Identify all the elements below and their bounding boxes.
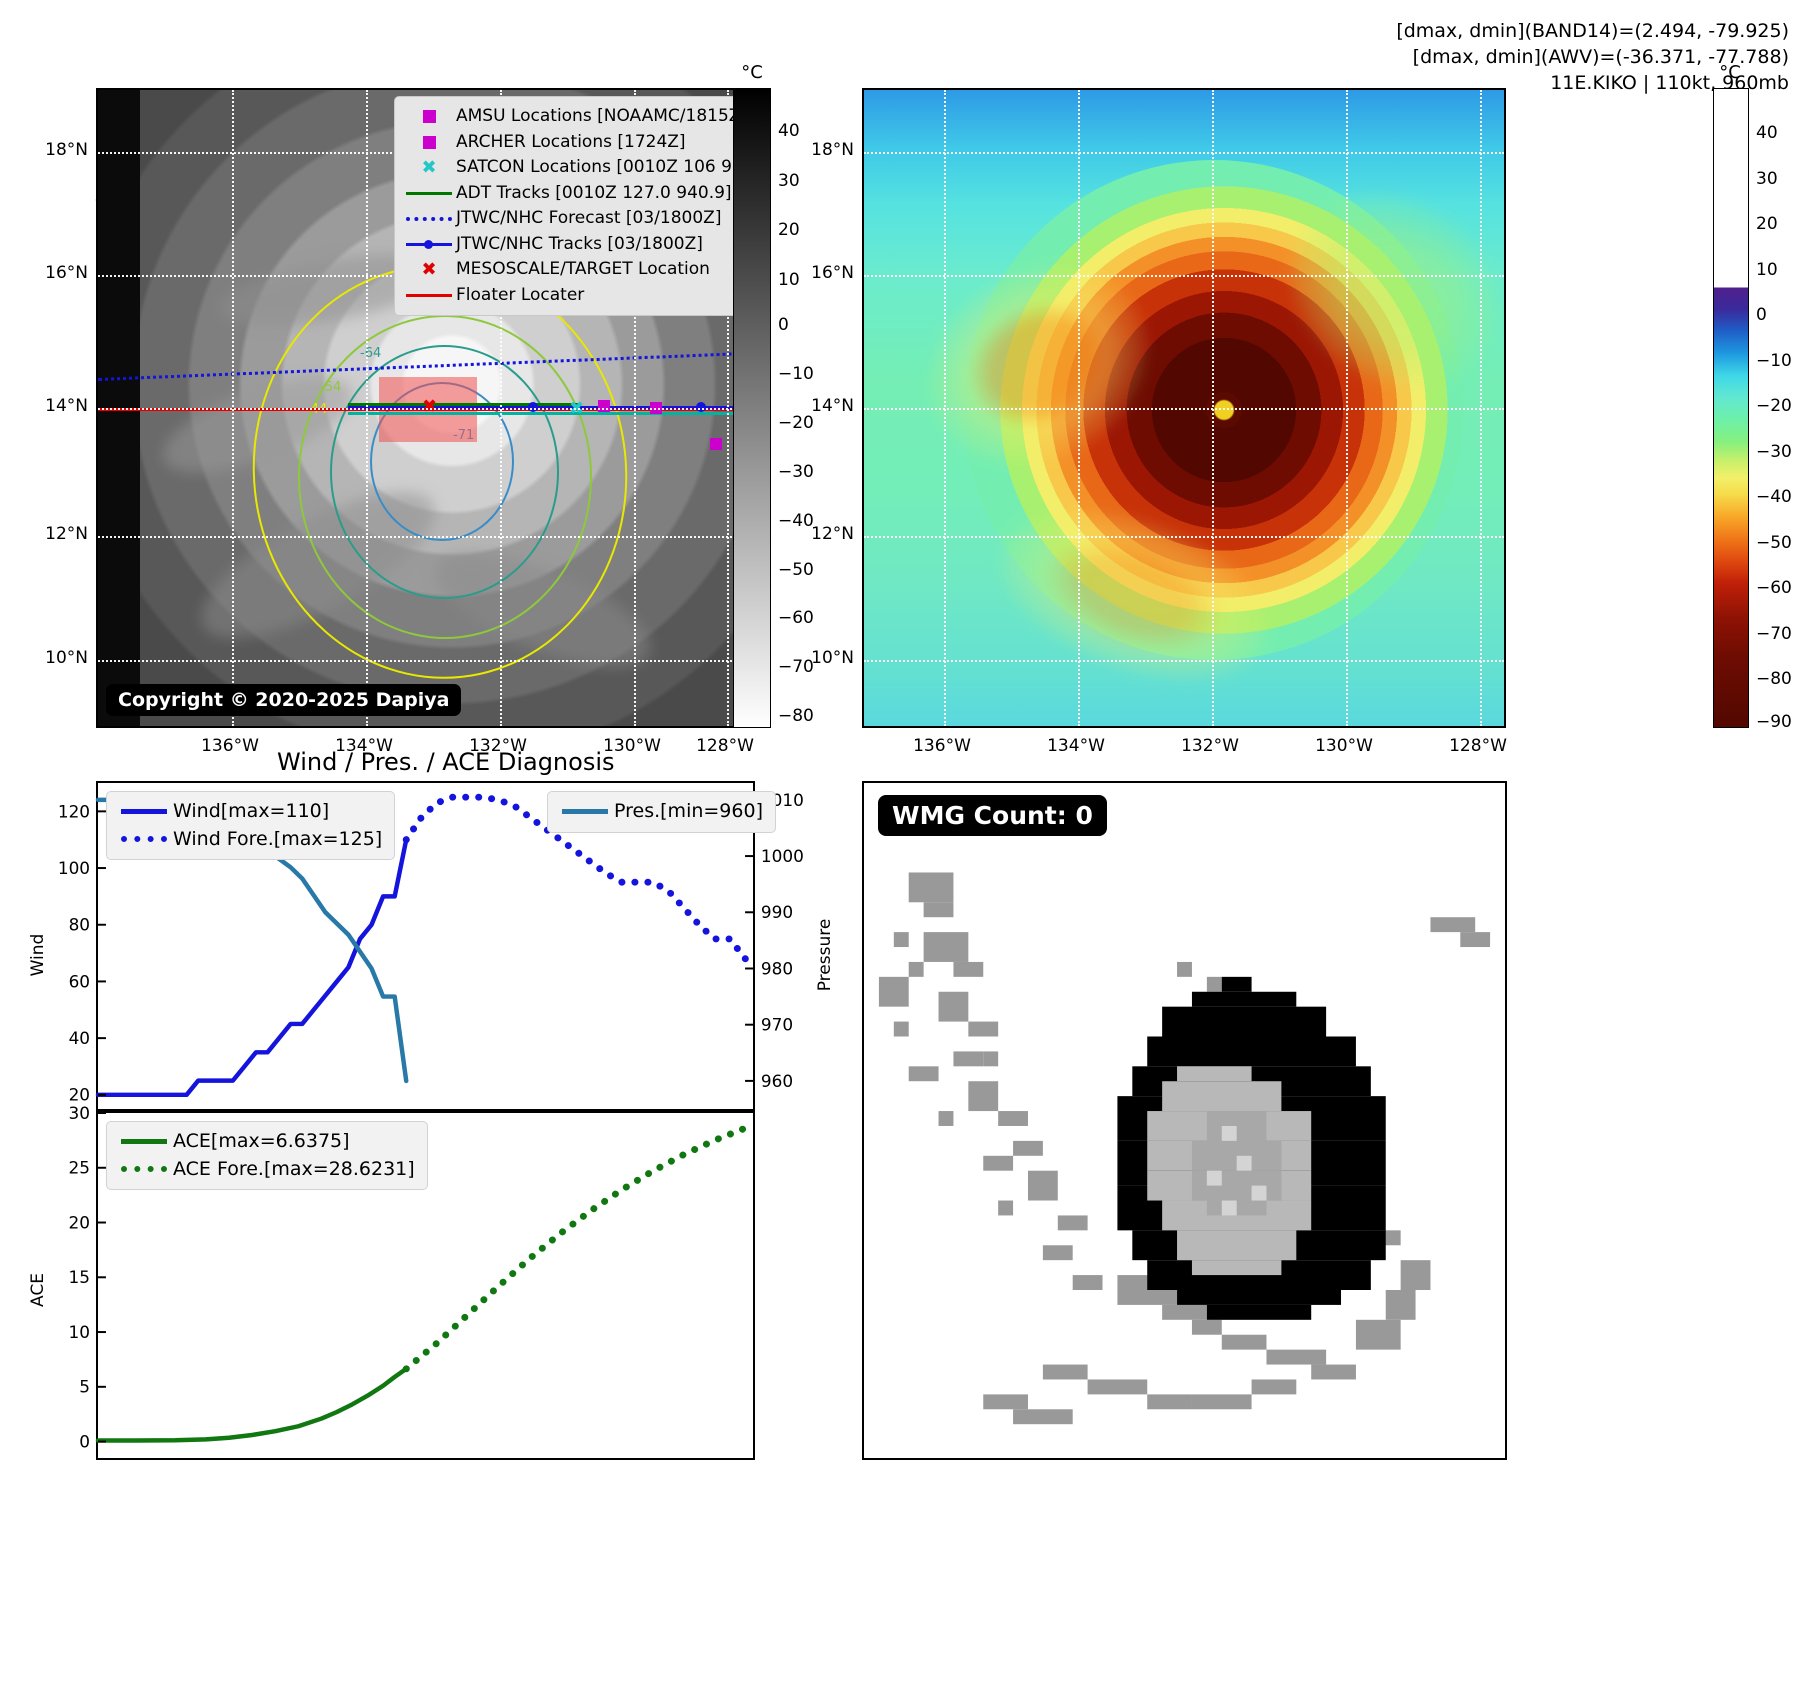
- legend-item: ✖ SATCON Locations [0010Z 106 956]: [402, 155, 738, 181]
- legend-label: ACE[max=6.6375]: [173, 1128, 350, 1156]
- ir-colorbar-tick: 20: [778, 220, 800, 240]
- svg-text:20: 20: [69, 1212, 90, 1232]
- awv-colorbar-unit: °C: [1719, 62, 1741, 83]
- legend-item: ARCHER Locations [1724Z]: [402, 130, 738, 156]
- amsu-location-marker: [710, 438, 722, 450]
- ir-colorbar-tick: −20: [778, 413, 814, 433]
- legend-item: ACE[max=6.6375]: [115, 1128, 415, 1156]
- pressure-chart-legend[interactable]: Pres.[min=960]: [547, 791, 776, 833]
- copyright-badge: Copyright © 2020-2025 Dapiya: [106, 684, 461, 716]
- ir-colorbar: [733, 88, 771, 728]
- ir-colorbar-tick: 40: [778, 121, 800, 141]
- dotted-line-icon: [115, 1158, 173, 1180]
- awv-xtick: 136°W: [913, 736, 971, 756]
- contour-label-54: -54: [320, 380, 341, 395]
- ir-colorbar-tick: −30: [778, 462, 814, 482]
- ir-ytick: 18°N: [30, 140, 88, 160]
- svg-text:980: 980: [761, 958, 793, 978]
- awv-colorbar-tick: −30: [1756, 442, 1792, 462]
- x-mark-icon: ✖: [402, 260, 456, 280]
- line-icon: [115, 1131, 173, 1153]
- ir-xtick: 128°W: [696, 736, 754, 756]
- svg-text:30: 30: [69, 1103, 90, 1123]
- legend-label: Pres.[min=960]: [614, 798, 763, 826]
- svg-text:120: 120: [58, 801, 90, 821]
- awv-gridline-horizontal: [864, 408, 1504, 410]
- wmg-count-badge: WMG Count: 0: [878, 795, 1107, 836]
- legend-label: JTWC/NHC Forecast [03/1800Z]: [456, 206, 721, 232]
- line-icon: [402, 285, 456, 305]
- svg-text:60: 60: [69, 971, 90, 991]
- legend-label: JTWC/NHC Tracks [03/1800Z]: [456, 232, 703, 258]
- awv-colorbar-tick: 0: [1756, 305, 1767, 325]
- contour-label-64: -64: [360, 346, 381, 361]
- ir-ytick: 14°N: [30, 396, 88, 416]
- dashboard-root: GOES-18 BAND14-DIAS MESOSCALE Time: 2025…: [0, 0, 1797, 1690]
- line-icon: [402, 183, 456, 203]
- amsu-location-marker: [598, 400, 610, 412]
- awv-gridline-horizontal: [864, 660, 1504, 662]
- header-metrics: [dmax, dmin](BAND14)=(2.494, -79.925) [d…: [1396, 18, 1789, 97]
- ir-colorbar-unit: °C: [741, 62, 763, 83]
- dotted-line-icon: [115, 828, 173, 850]
- awv-colorbar-tick: −60: [1756, 578, 1792, 598]
- ir-gridline-horizontal: [98, 660, 736, 662]
- legend-label: Floater Locater: [456, 283, 584, 309]
- pressure-axis-label: Pressure: [815, 910, 835, 1000]
- awv-ytick: 12°N: [796, 524, 854, 544]
- awv-xtick: 134°W: [1047, 736, 1105, 756]
- square-icon: [402, 132, 456, 152]
- awv-colorbar: [1713, 88, 1749, 728]
- ir-colorbar-tick: −10: [778, 364, 814, 384]
- awv-ytick: 18°N: [796, 140, 854, 160]
- legend-label: ARCHER Locations [1724Z]: [456, 130, 686, 156]
- awv-colorbar-tick: −50: [1756, 533, 1792, 553]
- legend-item: JTWC/NHC Forecast [03/1800Z]: [402, 206, 738, 232]
- svg-text:990: 990: [761, 902, 793, 922]
- legend-item: ADT Tracks [0010Z 127.0 940.9]: [402, 181, 738, 207]
- ir-colorbar-tick: 0: [778, 315, 789, 335]
- svg-text:25: 25: [69, 1158, 90, 1178]
- line-with-dot-icon: [402, 234, 456, 254]
- svg-text:80: 80: [69, 915, 90, 935]
- awv-gridline-horizontal: [864, 152, 1504, 154]
- awv-xtick: 130°W: [1315, 736, 1373, 756]
- awv-gridline-horizontal: [864, 275, 1504, 277]
- legend-label: MESOSCALE/TARGET Location: [456, 257, 710, 283]
- ir-ytick: 10°N: [30, 648, 88, 668]
- ace-chart[interactable]: 051015202530 ACE[max=6.6375] ACE Fore.[m…: [96, 1111, 755, 1460]
- wind-chart-title: Wind / Pres. / ACE Diagnosis: [277, 748, 615, 776]
- ir-legend[interactable]: AMSU Locations [NOAAMC/1815Z 104 973] AR…: [394, 96, 738, 316]
- legend-label: SATCON Locations [0010Z 106 956]: [456, 155, 738, 181]
- svg-text:960: 960: [761, 1071, 793, 1091]
- legend-label: ACE Fore.[max=28.6231]: [173, 1156, 415, 1184]
- svg-text:100: 100: [58, 858, 90, 878]
- awv-colorbar-tick: 20: [1756, 214, 1778, 234]
- awv-ytick: 10°N: [796, 648, 854, 668]
- wind-pressure-chart[interactable]: 2040608010012096097098099010001010 Wind[…: [96, 781, 755, 1111]
- awv-colorbar-tick: −90: [1756, 712, 1792, 732]
- svg-text:15: 15: [69, 1267, 90, 1287]
- awv-colorbar-tick: −40: [1756, 487, 1792, 507]
- legend-item: ✖ MESOSCALE/TARGET Location: [402, 257, 738, 283]
- legend-item: JTWC/NHC Tracks [03/1800Z]: [402, 232, 738, 258]
- legend-item: Pres.[min=960]: [556, 798, 763, 826]
- ir-colorbar-tick: 30: [778, 171, 800, 191]
- awv-xtick: 132°W: [1181, 736, 1239, 756]
- awv-colorbar-tick: 30: [1756, 169, 1778, 189]
- svg-text:0: 0: [79, 1432, 90, 1452]
- ir-gridline-horizontal: [98, 536, 736, 538]
- awv-ytick: 16°N: [796, 263, 854, 283]
- awv-colorbar-tick: 10: [1756, 260, 1778, 280]
- ir-ytick: 12°N: [30, 524, 88, 544]
- legend-label: AMSU Locations [NOAAMC/1815Z 104 973]: [456, 104, 738, 130]
- legend-label: Wind Fore.[max=125]: [173, 826, 382, 854]
- awv-gridline-horizontal: [864, 536, 1504, 538]
- ir-colorbar-tick: −50: [778, 560, 814, 580]
- svg-text:20: 20: [69, 1085, 90, 1105]
- ace-chart-legend[interactable]: ACE[max=6.6375] ACE Fore.[max=28.6231]: [106, 1121, 428, 1190]
- band14-extremes: [dmax, dmin](BAND14)=(2.494, -79.925): [1396, 18, 1789, 44]
- ir-xtick: 136°W: [201, 736, 259, 756]
- ace-axis-label: ACE: [28, 1250, 48, 1330]
- jtwc-track-point: [696, 402, 706, 412]
- ir-gridline-horizontal: [98, 408, 736, 410]
- awv-colorbar-tick: −20: [1756, 396, 1792, 416]
- ir-colorbar-tick: −60: [778, 608, 814, 628]
- svg-text:40: 40: [69, 1028, 90, 1048]
- awv-colorbar-tick: −70: [1756, 624, 1792, 644]
- svg-text:970: 970: [761, 1015, 793, 1035]
- x-mark-icon: ✖: [402, 158, 456, 178]
- legend-item: ACE Fore.[max=28.6231]: [115, 1156, 415, 1184]
- legend-item: Wind Fore.[max=125]: [115, 826, 382, 854]
- square-icon: [402, 107, 456, 127]
- awv-colorbar-tick: 40: [1756, 123, 1778, 143]
- wmg-cell-map: [864, 783, 1505, 1458]
- wind-axis-label: Wind: [28, 915, 48, 995]
- legend-item: AMSU Locations [NOAAMC/1815Z 104 973]: [402, 104, 738, 130]
- ir-colorbar-tick: −80: [778, 706, 814, 726]
- legend-label: Wind[max=110]: [173, 798, 329, 826]
- awv-xtick: 128°W: [1449, 736, 1507, 756]
- jtwc-track-point: [528, 402, 538, 412]
- wmg-panel[interactable]: WMG Count: 0: [862, 781, 1507, 1460]
- ir-satellite-panel[interactable]: -64 -54 -44 -71 ✖ ✖ Copyright © 2020-202…: [96, 88, 738, 728]
- svg-text:10: 10: [69, 1322, 90, 1342]
- awv-ytick: 14°N: [796, 396, 854, 416]
- ir-ytick: 16°N: [30, 263, 88, 283]
- mesoscale-target-marker: ✖: [422, 398, 437, 416]
- legend-label: ADT Tracks [0010Z 127.0 940.9]: [456, 181, 732, 207]
- awv-colorbar-tick: −10: [1756, 351, 1792, 371]
- svg-text:1000: 1000: [761, 846, 804, 866]
- legend-item: Wind[max=110]: [115, 798, 382, 826]
- awv-colorbar-tick: −80: [1756, 669, 1792, 689]
- dotted-line-icon: [402, 209, 456, 229]
- line-icon: [556, 801, 614, 823]
- legend-item: Floater Locater: [402, 283, 738, 309]
- line-icon: [115, 801, 173, 823]
- satcon-track-line: [348, 412, 738, 415]
- awv-satellite-panel[interactable]: [862, 88, 1506, 728]
- wind-chart-legend[interactable]: Wind[max=110] Wind Fore.[max=125]: [106, 791, 395, 860]
- svg-text:5: 5: [79, 1377, 90, 1397]
